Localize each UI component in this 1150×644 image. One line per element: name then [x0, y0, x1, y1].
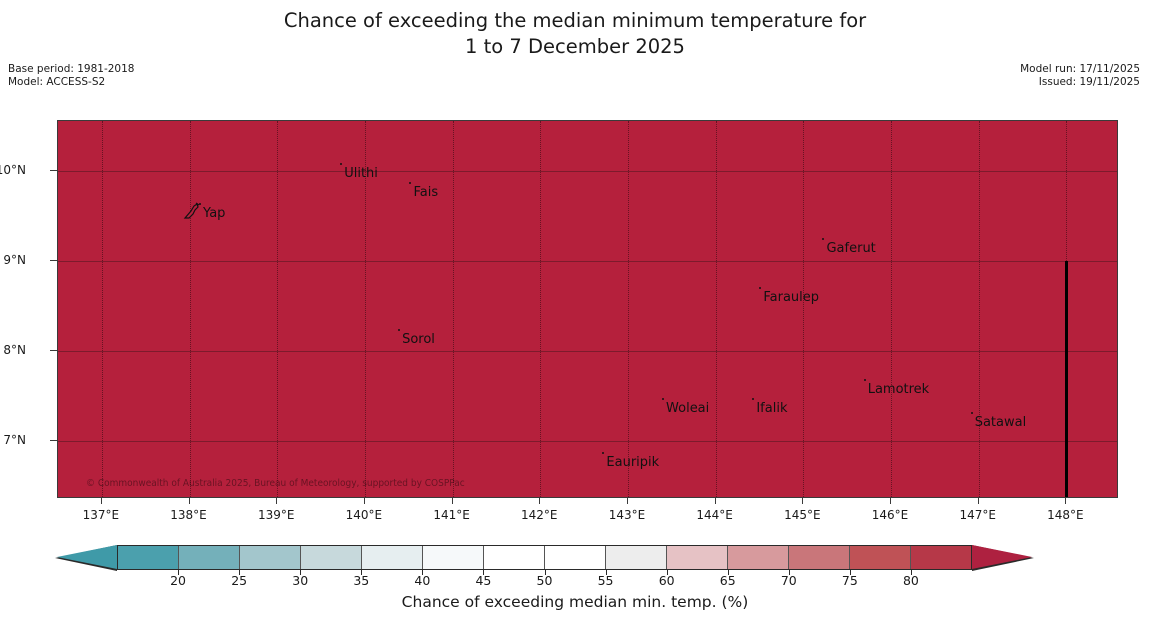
x-axis-tick-mark — [276, 498, 277, 504]
colorbar-tick-mark — [667, 570, 668, 575]
map-label-ifalik: Ifalik — [756, 402, 787, 415]
x-axis-tick-label: 139°E — [258, 508, 295, 522]
colorbar-segment-2 — [240, 546, 301, 569]
copyright-text: © Commonwealth of Australia 2025, Bureau… — [86, 478, 465, 489]
x-axis-tick-mark — [101, 498, 102, 504]
x-axis-tick-mark — [364, 498, 365, 504]
x-axis-tick-mark — [715, 498, 716, 504]
y-axis-tick-label: 7°N — [3, 433, 26, 447]
colorbar-tick-mark — [300, 570, 301, 575]
map-label-text: Woleai — [666, 401, 709, 416]
y-axis-tick-label: 8°N — [3, 343, 26, 357]
x-axis-tick-mark — [978, 498, 979, 504]
colorbar-tick-label: 80 — [903, 573, 919, 588]
colorbar-segment-4 — [362, 546, 423, 569]
y-axis-tick-mark — [50, 170, 57, 171]
eez-boundary-line — [1065, 261, 1068, 499]
map-label-text: Satawal — [975, 415, 1027, 430]
x-axis-tick-label: 141°E — [433, 508, 470, 522]
colorbar-under-arrow — [57, 545, 117, 569]
colorbar-tick-label: 40 — [414, 573, 430, 588]
colorbar-tick-mark — [545, 570, 546, 575]
map-label-text: Yap — [203, 206, 225, 221]
map-marker-dot — [199, 203, 201, 205]
map-label-text: Lamotrek — [868, 382, 930, 397]
x-axis-tick-label: 145°E — [784, 508, 821, 522]
colorbar-segment-13 — [911, 546, 971, 569]
x-axis-tick-label: 143°E — [609, 508, 646, 522]
x-axis-tick-label: 147°E — [959, 508, 996, 522]
x-axis-tick-mark — [890, 498, 891, 504]
x-axis-tick-mark — [189, 498, 190, 504]
colorbar-tick-label: 70 — [781, 573, 797, 588]
colorbar-tick-mark — [789, 570, 790, 575]
colorbar-segment-7 — [545, 546, 606, 569]
map-label-text: Gaferut — [826, 241, 875, 256]
colorbar-segment-10 — [728, 546, 789, 569]
gridline-lat-7 — [58, 441, 1117, 442]
map-marker-dot — [398, 329, 400, 331]
page-title: Chance of exceeding the median minimum t… — [0, 8, 1150, 60]
map-marker-dot — [409, 182, 411, 184]
colorbar-tick-mark — [361, 570, 362, 575]
colorbar-segment-11 — [789, 546, 850, 569]
model-run-text: Model run: 17/11/2025 — [1020, 63, 1140, 76]
map-label-text: Fais — [413, 185, 438, 200]
map-label-woleai: Woleai — [666, 402, 709, 415]
x-axis-tick-label: 146°E — [872, 508, 909, 522]
colorbar-segment-12 — [850, 546, 911, 569]
map-label-text: Ulithi — [344, 166, 378, 181]
gridline-lat-10 — [58, 171, 1117, 172]
colorbar-segment-0 — [118, 546, 179, 569]
colorbar-tick-label: 25 — [231, 573, 247, 588]
colorbar-tick-mark — [422, 570, 423, 575]
colorbar-tick-label: 35 — [353, 573, 369, 588]
colorbar-tick-label: 45 — [475, 573, 491, 588]
map-label-text: Faraulep — [763, 290, 819, 305]
map-label-satawal: Satawal — [975, 416, 1027, 429]
colorbar-tick-mark — [728, 570, 729, 575]
y-axis-tick-mark — [50, 260, 57, 261]
map-label-text: Eauripik — [606, 455, 659, 470]
colorbar-tick-label: 65 — [720, 573, 736, 588]
colorbar-segment-5 — [423, 546, 484, 569]
x-axis-tick-label: 142°E — [521, 508, 558, 522]
map-marker-dot — [602, 452, 604, 454]
colorbar-tick-mark — [850, 570, 851, 575]
x-axis-tick-mark — [1065, 498, 1066, 504]
map-label-lamotrek: Lamotrek — [868, 383, 930, 396]
colorbar-over-arrow — [972, 545, 1032, 569]
x-axis-tick-label: 148°E — [1047, 508, 1084, 522]
map-label-yap: Yap — [203, 207, 225, 220]
page-title-line2: 1 to 7 December 2025 — [0, 34, 1150, 60]
colorbar-segment-1 — [179, 546, 240, 569]
metadata-left: Base period: 1981-2018 Model: ACCESS-S2 — [8, 63, 134, 89]
map-marker-dot — [662, 398, 664, 400]
map-label-eauripik: Eauripik — [606, 456, 659, 469]
colorbar-tick-mark — [178, 570, 179, 575]
colorbar-tick-label: 20 — [170, 573, 186, 588]
map-plot-area[interactable]: YapUlithiFaisGaferutFaraulepSorolWoleaiI… — [57, 120, 1118, 498]
map-marker-dot — [864, 379, 866, 381]
y-axis-tick-label: 9°N — [3, 253, 26, 267]
map-label-text: Ifalik — [756, 401, 787, 416]
y-axis-tick-mark — [50, 440, 57, 441]
map-marker-dot — [340, 163, 342, 165]
colorbar[interactable] — [117, 545, 972, 570]
x-axis-tick-label: 144°E — [696, 508, 733, 522]
gridline-lat-8 — [58, 351, 1117, 352]
colorbar-gradient — [117, 545, 972, 570]
colorbar-tick-label: 30 — [292, 573, 308, 588]
map-label-ulithi: Ulithi — [344, 167, 378, 180]
colorbar-segment-3 — [301, 546, 362, 569]
metadata-right: Model run: 17/11/2025 Issued: 19/11/2025 — [1020, 63, 1140, 89]
gridline-lat-9 — [58, 261, 1117, 262]
colorbar-tick-mark — [606, 570, 607, 575]
colorbar-tick-label: 50 — [537, 573, 553, 588]
colorbar-label: Chance of exceeding median min. temp. (%… — [0, 593, 1150, 611]
colorbar-tick-label: 75 — [842, 573, 858, 588]
map-label-text: Sorol — [402, 332, 435, 347]
map-marker-dot — [759, 287, 761, 289]
model-text: Model: ACCESS-S2 — [8, 76, 134, 89]
map-label-fais: Fais — [413, 186, 438, 199]
x-axis-tick-mark — [539, 498, 540, 504]
colorbar-segment-9 — [667, 546, 728, 569]
map-marker-dot — [752, 398, 754, 400]
map-label-sorol: Sorol — [402, 333, 435, 346]
map-label-gaferut: Gaferut — [826, 242, 875, 255]
x-axis-tick-mark — [627, 498, 628, 504]
x-axis-tick-label: 138°E — [170, 508, 207, 522]
base-period-text: Base period: 1981-2018 — [8, 63, 134, 76]
page-title-line1: Chance of exceeding the median minimum t… — [0, 8, 1150, 34]
x-axis-tick-mark — [452, 498, 453, 504]
y-axis-tick-label: 10°N — [0, 163, 26, 177]
x-axis-tick-label: 137°E — [83, 508, 120, 522]
x-axis-tick-label: 140°E — [346, 508, 383, 522]
x-axis-tick-mark — [802, 498, 803, 504]
y-axis-tick-mark — [50, 350, 57, 351]
colorbar-segment-8 — [606, 546, 667, 569]
issued-text: Issued: 19/11/2025 — [1020, 76, 1140, 89]
map-marker-dot — [822, 238, 824, 240]
colorbar-tick-mark — [239, 570, 240, 575]
colorbar-tick-label: 60 — [659, 573, 675, 588]
colorbar-tick-label: 55 — [598, 573, 614, 588]
map-marker-dot — [971, 412, 973, 414]
colorbar-tick-mark — [911, 570, 912, 575]
colorbar-segment-6 — [484, 546, 545, 569]
map-label-faraulep: Faraulep — [763, 291, 819, 304]
colorbar-tick-mark — [483, 570, 484, 575]
